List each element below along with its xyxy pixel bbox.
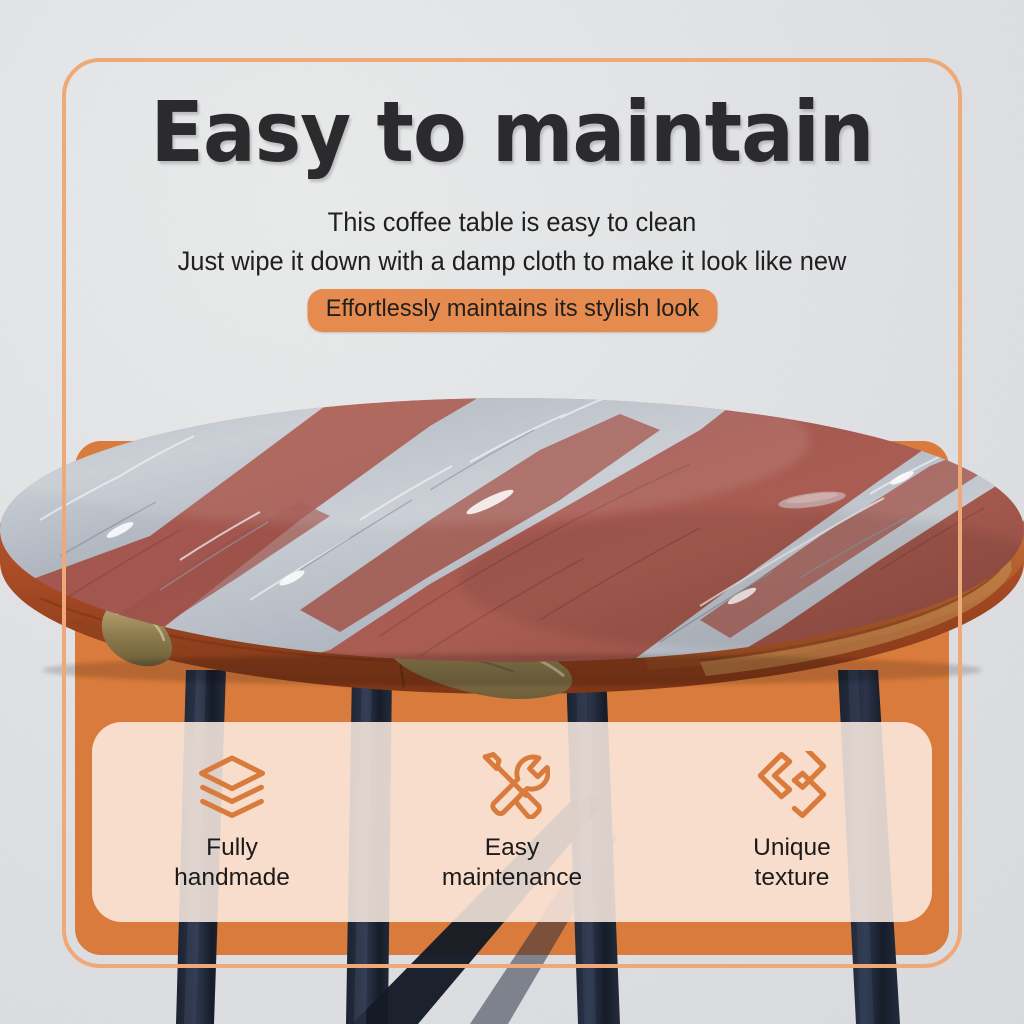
feature-label: Easy maintenance xyxy=(442,833,582,894)
layers-icon xyxy=(194,751,270,819)
feature-highlights-card: Fully handmade Easy maintenance Unique t… xyxy=(92,722,932,922)
header-block: Easy to maintain This coffee table is ea… xyxy=(0,0,1024,332)
tagline-badge-wrapper: Effortlessly maintains its stylish look xyxy=(0,289,1024,332)
feature-item-unique-texture: Unique texture xyxy=(652,751,932,894)
subtitle-line-1: This coffee table is easy to clean xyxy=(20,171,1003,241)
feature-item-easy-maintenance: Easy maintenance xyxy=(372,751,652,894)
status-badge: Effortlessly maintains its stylish look xyxy=(307,289,717,332)
page-title: Easy to maintain xyxy=(36,0,988,171)
feature-label: Fully handmade xyxy=(174,833,290,894)
feature-item-fully-handmade: Fully handmade xyxy=(92,751,372,894)
product-photo-coffee-table xyxy=(0,370,1024,1024)
tools-wrench-screwdriver-icon xyxy=(474,751,550,819)
interlocking-diamonds-icon xyxy=(754,751,830,819)
subtitle-line-2: Just wipe it down with a damp cloth to m… xyxy=(20,242,1003,280)
feature-label: Unique texture xyxy=(753,833,831,894)
